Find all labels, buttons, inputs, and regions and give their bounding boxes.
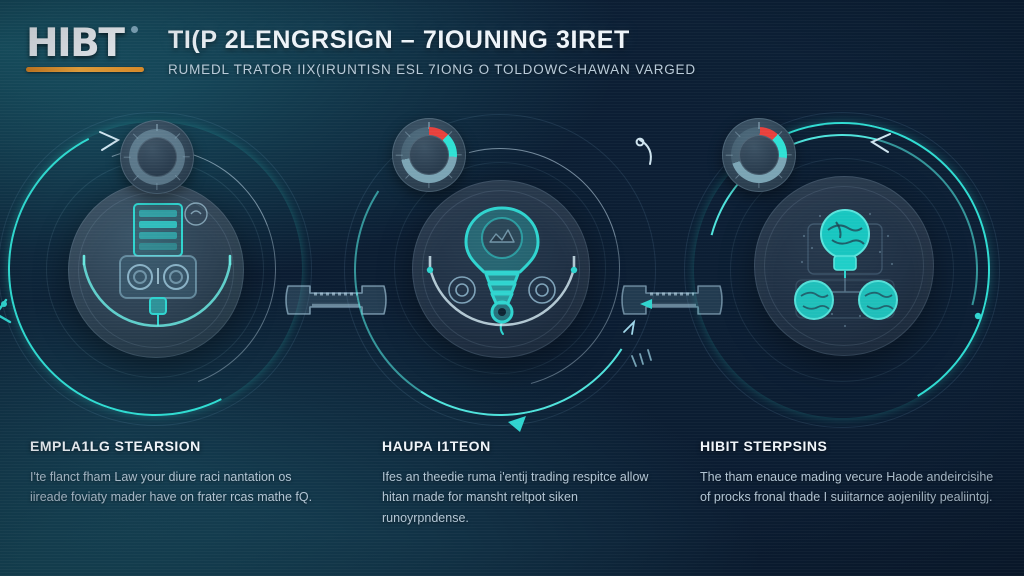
stage-text-2: HAUPA I1TEON Ifes an theedie ruma i'enti… — [382, 438, 667, 528]
stage-panel-3 — [678, 104, 1024, 434]
stage-2-heading: HAUPA I1TEON — [382, 438, 667, 454]
stage-text-1: EMPLA1LG STEARSION I'te flanct fham Law … — [30, 438, 330, 508]
progress-arc-icon — [422, 256, 582, 376]
brand-wordmark: HIBT — [26, 24, 144, 63]
gauge-core — [739, 135, 779, 175]
progress-arc-icon — [78, 254, 236, 374]
brand-underline — [26, 67, 144, 72]
stage-3-heading: HIBIT STERPSINS — [700, 438, 1000, 454]
header-titles: TI(P 2LENGRSIGN – 7IOUNING 3IRET RUMEDL … — [168, 26, 788, 77]
infographic-canvas: HIBT TI(P 2LENGRSIGN – 7IOUNING 3IRET RU… — [0, 0, 1024, 576]
stage-1-heading: EMPLA1LG STEARSION — [30, 438, 330, 454]
page-title: TI(P 2LENGRSIGN – 7IOUNING 3IRET — [168, 26, 788, 55]
brand-logo: HIBT — [26, 24, 144, 72]
stage-3-body: The tham enauce mading vecure Haode ande… — [700, 467, 1000, 508]
stage-panel-2 — [340, 104, 670, 434]
gauge-core — [409, 135, 449, 175]
page-subtitle: RUMEDL TRATOR IIX(IRUNTISN ESL 7IONG O T… — [168, 62, 788, 77]
stage-1-body: I'te flanct fham Law your diure raci nan… — [30, 467, 330, 508]
registered-mark-dot-icon — [131, 26, 138, 33]
stage-text-3: HIBIT STERPSINS The tham enauce mading v… — [700, 438, 1000, 508]
gauge-core — [137, 137, 177, 177]
stage-2-body: Ifes an theedie ruma i'entij trading res… — [382, 467, 667, 528]
status-gauge-active — [392, 118, 466, 192]
stage-panel-1 — [0, 104, 340, 434]
status-gauge-idle — [120, 120, 194, 194]
network-nodes-globe-icon — [774, 196, 916, 338]
status-gauge-distributed — [722, 118, 796, 192]
